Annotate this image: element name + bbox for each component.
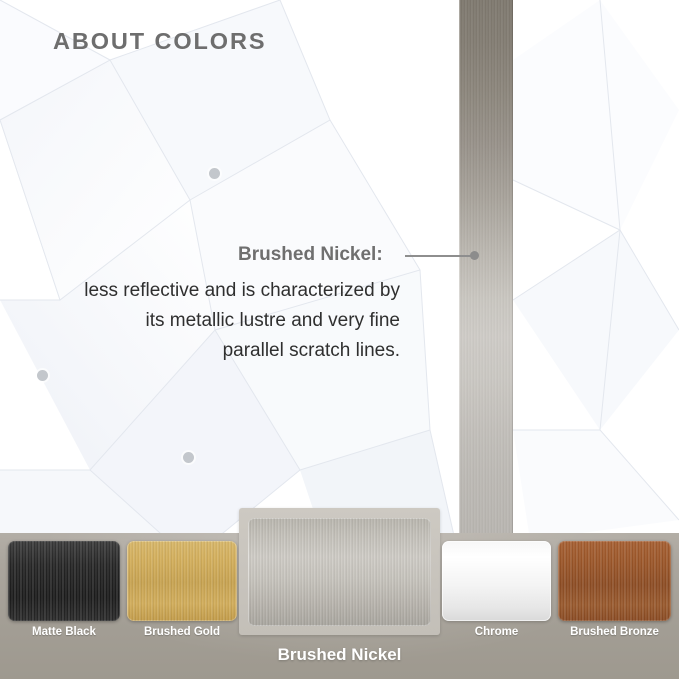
callout-line: its metallic lustre and very fine: [20, 306, 400, 336]
callout-line: less reflective and is characterized by: [20, 276, 400, 306]
callout-leader-line: [405, 255, 473, 257]
callout-line: parallel scratch lines.: [20, 336, 400, 366]
swatch-label-brushed-gold: Brushed Gold: [127, 626, 237, 638]
swatch-label-brushed-bronze: Brushed Bronze: [558, 626, 671, 638]
swatch-brushed-nickel-featured[interactable]: [239, 508, 440, 635]
decor-dot: [37, 370, 48, 381]
brushed-nickel-sample-strip: [459, 0, 513, 534]
callout-description: less reflective and is characterized by …: [20, 276, 400, 366]
swatch-brushed-bronze[interactable]: [558, 541, 671, 621]
decor-dot: [209, 168, 220, 179]
swatch-brushed-nickel-surface: [248, 518, 431, 626]
swatch-brushed-gold[interactable]: [127, 541, 237, 621]
about-colors-infographic: ABOUT COLORS Brushed Nickel: less reflec…: [0, 0, 679, 679]
swatch-chrome[interactable]: [442, 541, 551, 621]
callout-leader-dot: [470, 251, 479, 260]
swatch-matte-black[interactable]: [8, 541, 120, 621]
decor-dot: [183, 452, 194, 463]
swatch-label-brushed-nickel: Brushed Nickel: [239, 645, 440, 665]
page-title: ABOUT COLORS: [53, 28, 266, 55]
swatch-label-chrome: Chrome: [442, 626, 551, 638]
callout-title: Brushed Nickel:: [238, 244, 383, 266]
swatch-label-matte-black: Matte Black: [8, 626, 120, 638]
